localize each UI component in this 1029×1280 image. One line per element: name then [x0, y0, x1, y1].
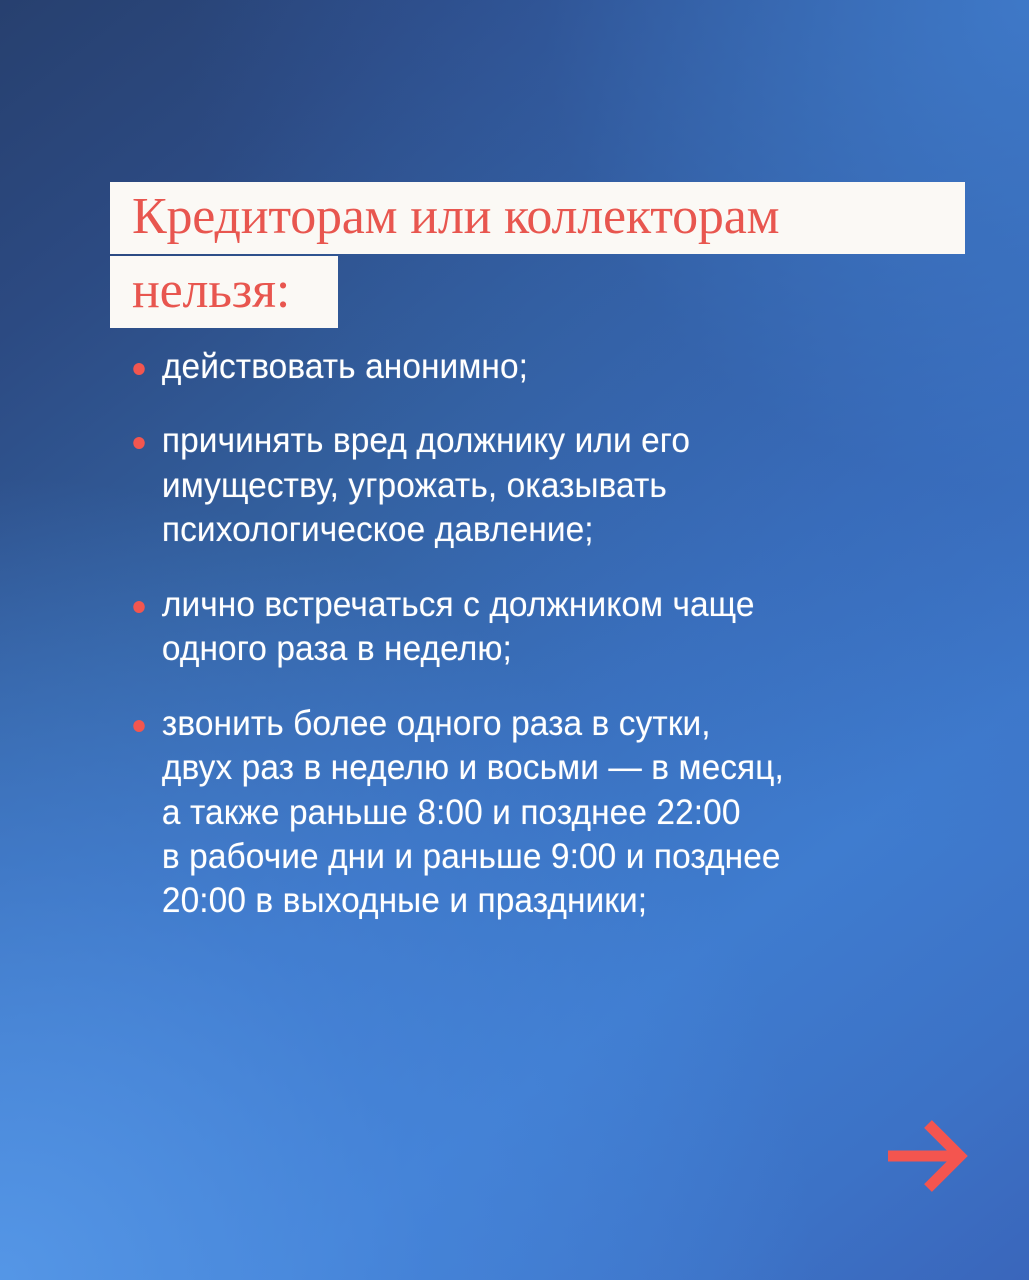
slide-canvas: Кредиторам или коллекторам нельзя: дейст… [0, 0, 1029, 1280]
page-title: Кредиторам или коллекторам нельзя: [110, 182, 970, 328]
list-item-text: лично встречаться с должником чаще одног… [162, 583, 958, 672]
bullet-dot-icon [133, 437, 144, 449]
bullet-dot-icon [133, 720, 144, 732]
arrow-right-icon [884, 1116, 968, 1196]
prohibitions-list: действовать анонимно; причинять вред дол… [118, 345, 998, 924]
bullet-dot-icon [133, 601, 144, 613]
bullet-dot-icon [133, 363, 144, 375]
list-item-text: причинять вред должнику или его имуществ… [162, 419, 958, 552]
list-item: лично встречаться с должником чаще одног… [118, 583, 958, 672]
page-title-line-1: Кредиторам или коллекторам [110, 182, 965, 254]
next-slide-button[interactable] [884, 1116, 968, 1196]
page-title-line-2: нельзя: [110, 256, 338, 328]
list-item: действовать анонимно; [118, 345, 958, 389]
list-item-text: действовать анонимно; [162, 345, 958, 389]
list-item: причинять вред должнику или его имуществ… [118, 419, 958, 552]
list-item-text: звонить более одного раза в сутки, двух … [162, 702, 958, 924]
list-item: звонить более одного раза в сутки, двух … [118, 702, 958, 924]
